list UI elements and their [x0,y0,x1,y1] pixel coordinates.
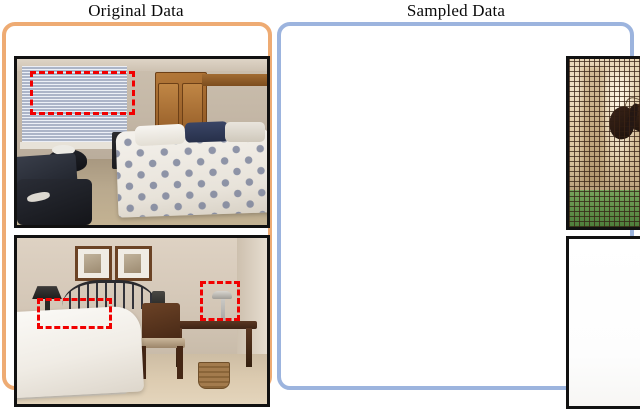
desk-lamp-head [212,291,232,299]
desk [172,321,257,329]
luggage-lower [17,179,92,225]
white-background [569,239,640,406]
window [22,66,127,142]
desk-leg-right [246,328,252,368]
wooden-chair-back [142,303,180,343]
figure-root: Original Data Sampled Data [0,0,640,400]
wooden-shelf [202,74,267,86]
pillow-navy [184,121,227,142]
bed-white [17,306,144,400]
image-bedroom-white [14,235,270,407]
image-moth-screen [566,56,640,230]
panel-title-sampled: Sampled Data [277,1,635,21]
image-bedroom-blinds [14,56,270,228]
pillow-white [134,124,185,146]
picture-frame-left [75,246,113,281]
insect-screen-mesh [569,59,640,227]
image-white-hook [566,236,640,409]
photo-canvas-white-hook [569,239,640,406]
panel-sampled-data [277,22,634,390]
chair-leg-right [177,346,183,379]
wall-right [237,238,267,367]
panel-title-original: Original Data [0,1,272,21]
photo-canvas-bedroom-blinds [17,59,267,225]
picture-frame-right [115,246,153,281]
pillow-white-2 [225,122,265,142]
wicker-wastebasket [198,362,230,389]
desk-lamp-stem [221,296,225,321]
photo-canvas-moth-screen [569,59,640,227]
photo-canvas-bedroom-white [17,238,267,404]
panel-original-data [2,22,272,390]
window-blinds [22,66,127,142]
